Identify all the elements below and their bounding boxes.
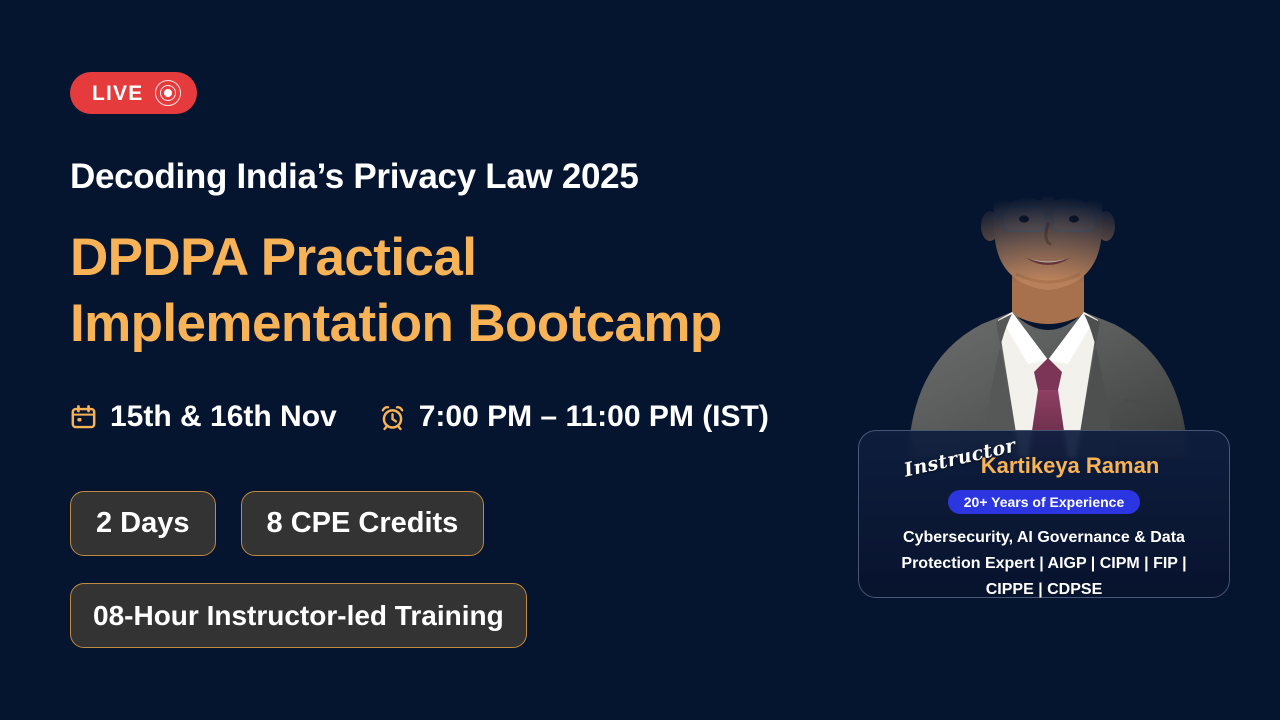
schedule-row: 15th & 16th Nov 7:00 PM – 11:00 PM (IST) [70, 400, 769, 434]
record-icon [155, 80, 181, 106]
event-time: 7:00 PM – 11:00 PM (IST) [419, 400, 769, 434]
alarm-clock-icon [379, 404, 406, 431]
live-badge[interactable]: LIVE [70, 72, 197, 114]
instructor-portrait [862, 108, 1234, 458]
badge-cpe-credits: 8 CPE Credits [241, 491, 485, 556]
experience-badge: 20+ Years of Experience [948, 490, 1140, 514]
event-date: 15th & 16th Nov [110, 400, 337, 434]
instructor-name-row: Instructor Kartikeya Raman [875, 451, 1213, 481]
instructor-card: Instructor Kartikeya Raman 20+ Years of … [858, 430, 1230, 598]
event-subtitle: Decoding India’s Privacy Law 2025 [70, 157, 639, 197]
badge-row-primary: 2 Days 8 CPE Credits [70, 491, 484, 556]
calendar-icon [70, 404, 97, 431]
headline-line-2: Implementation Bootcamp [70, 291, 860, 357]
instructor-credentials: Cybersecurity, AI Governance & Data Prot… [875, 525, 1213, 603]
live-label: LIVE [92, 83, 143, 104]
badge-duration: 2 Days [70, 491, 216, 556]
left-content-column: LIVE Decoding India’s Privacy Law 2025 D… [70, 0, 860, 720]
badge-row-secondary: 08-Hour Instructor-led Training [70, 583, 527, 648]
headline-line-1: DPDPA Practical [70, 225, 860, 291]
page-title: DPDPA Practical Implementation Bootcamp [70, 225, 860, 356]
badge-training-hours: 08-Hour Instructor-led Training [70, 583, 527, 648]
webinar-promo-banner: LIVE Decoding India’s Privacy Law 2025 D… [0, 0, 1280, 720]
